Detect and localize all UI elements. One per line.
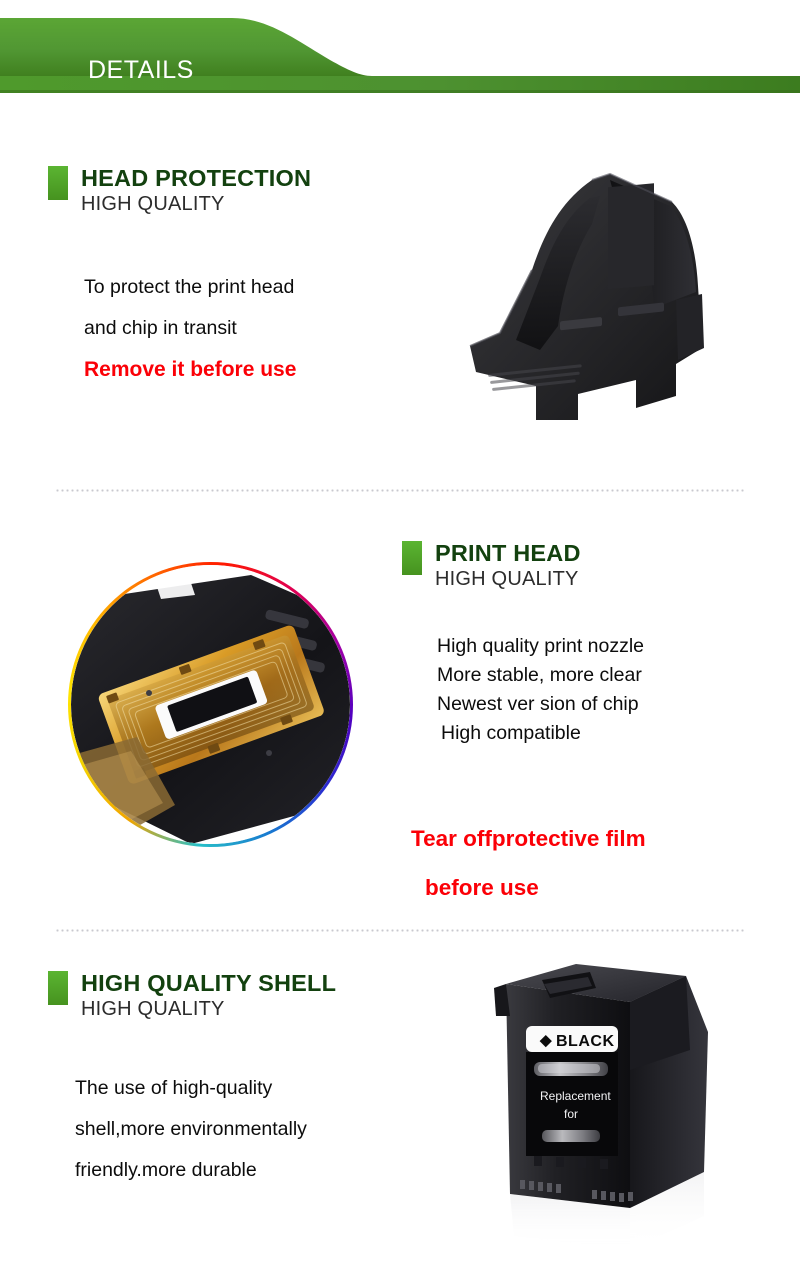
body-line: and chip in transit — [84, 308, 296, 349]
circle-photo-inner — [71, 565, 350, 844]
body-line: friendly.more durable — [75, 1150, 307, 1191]
body-line: Newest ver sion of chip — [437, 690, 644, 719]
green-marker-icon — [402, 541, 422, 575]
ink-cartridge-photo: ◆ BLACK Replacement for — [480, 958, 730, 1258]
cartridge-label-color: BLACK — [556, 1033, 615, 1050]
section-body-head-protection: To protect the print head and chip in tr… — [84, 267, 296, 390]
section-subtitle: HIGH QUALITY — [435, 568, 581, 591]
alert-line: Remove it before use — [84, 349, 296, 390]
section-title: HEAD PROTECTION — [81, 166, 311, 191]
cartridge-label-line1: Replacement — [540, 1089, 611, 1103]
print-head-nozzle-closeup-photo — [68, 562, 353, 847]
header-title: DETAILS — [88, 58, 194, 83]
details-header-banner: DETAILS — [0, 18, 800, 98]
cartridge-label-diamond: ◆ — [539, 1032, 552, 1049]
green-marker-icon — [48, 971, 68, 1005]
cartridge-label-line2: for — [564, 1107, 578, 1121]
section-title: HIGH QUALITY SHELL — [81, 971, 336, 996]
section-subtitle: HIGH QUALITY — [81, 998, 336, 1021]
section-body-high-quality-shell: The use of high-quality shell,more envir… — [75, 1068, 307, 1191]
body-line: High compatible — [437, 719, 644, 748]
product-details-page: DETAILS HEAD PROTECTION HIGH QUALITY To … — [0, 0, 800, 1283]
clip-illustration — [440, 158, 740, 423]
section-title: PRINT HEAD — [435, 541, 581, 566]
cartridge-illustration: ◆ BLACK Replacement for — [480, 958, 730, 1258]
body-line: More stable, more clear — [437, 661, 644, 690]
section-subtitle: HIGH QUALITY — [81, 193, 311, 216]
section-body-print-head: High quality print nozzle More stable, m… — [437, 632, 644, 748]
body-line: To protect the print head — [84, 267, 296, 308]
print-head-protection-clip-photo — [440, 158, 740, 423]
alert-line: before use — [411, 863, 646, 912]
green-marker-icon — [48, 166, 68, 200]
body-line: The use of high-quality — [75, 1068, 307, 1109]
body-line: High quality print nozzle — [437, 632, 644, 661]
nozzle-illustration — [71, 565, 350, 844]
section-heading-high-quality-shell: HIGH QUALITY SHELL HIGH QUALITY — [48, 971, 336, 1021]
section-alert-print-head: Tear offprotective film before use — [411, 814, 646, 912]
section-divider — [55, 489, 745, 492]
alert-line: Tear offprotective film — [411, 814, 646, 863]
body-line: shell,more environmentally — [75, 1109, 307, 1150]
section-heading-head-protection: HEAD PROTECTION HIGH QUALITY — [48, 166, 311, 216]
section-heading-print-head: PRINT HEAD HIGH QUALITY — [402, 541, 581, 591]
section-divider — [55, 929, 745, 932]
